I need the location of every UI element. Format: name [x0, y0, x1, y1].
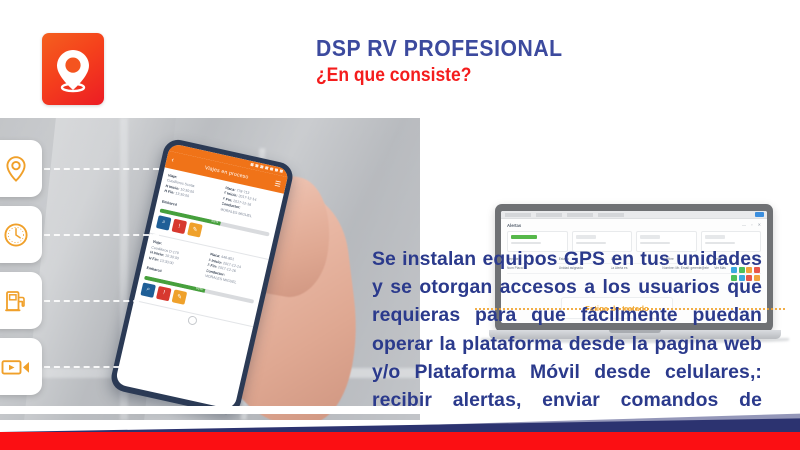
browser-tabs[interactable] [505, 213, 625, 217]
dashed-connector [44, 234, 159, 236]
phone-photo: ‹ Viajes en proceso ☰ Viaje: Cuodiloros … [118, 136, 348, 420]
sidebar-item-fuel-control[interactable] [0, 272, 42, 329]
dashed-connector [44, 168, 159, 170]
sidebar-item-hours-control[interactable] [0, 206, 42, 263]
sidebar-item-video-monitoring[interactable] [0, 338, 42, 395]
main-paragraph: Se instalan equipos GPS en tus unidades … [372, 245, 762, 420]
back-arrow-icon[interactable]: ‹ [171, 157, 175, 164]
window-controls[interactable]: — ▫ ✕ [742, 222, 763, 227]
clock-icon [3, 222, 29, 248]
window-button[interactable] [755, 212, 764, 217]
home-indicator [187, 315, 198, 326]
search-icon[interactable]: ⌕ [140, 282, 156, 297]
dashboard-title: Alertas [501, 219, 767, 230]
location-pin-icon [4, 155, 28, 183]
slide-body: ‹ Viajes en proceso ☰ Viaje: Cuodiloros … [0, 118, 800, 420]
page-title: DSP RV PROFESIONAL [316, 36, 620, 62]
sidebar-item-gps-tracking[interactable] [0, 140, 42, 197]
alert-icon[interactable]: ! [156, 286, 172, 301]
fuel-pump-icon [3, 288, 29, 314]
video-camera-icon [1, 357, 31, 377]
edit-icon[interactable]: ✎ [172, 289, 188, 304]
slide-header: DSP RV PROFESIONAL ¿En que consiste? [0, 0, 800, 118]
page-subtitle: ¿En que consiste? [316, 65, 620, 87]
hamburger-menu-icon[interactable]: ☰ [274, 179, 282, 188]
slide-root: DSP RV PROFESIONAL ¿En que consiste? ‹ [0, 0, 800, 450]
location-pin-logo [42, 33, 104, 105]
dashed-connector [44, 300, 159, 302]
dashed-connector [44, 366, 159, 368]
edit-icon[interactable]: ✎ [187, 222, 203, 237]
bottom-red-bar [0, 432, 800, 450]
header-title-block: DSP RV PROFESIONAL ¿En que consiste? [316, 36, 646, 87]
alert-icon[interactable]: ! [171, 219, 187, 234]
search-icon[interactable]: ⌕ [156, 216, 172, 231]
feature-icon-sidebar [0, 118, 60, 420]
browser-chrome [501, 211, 767, 219]
